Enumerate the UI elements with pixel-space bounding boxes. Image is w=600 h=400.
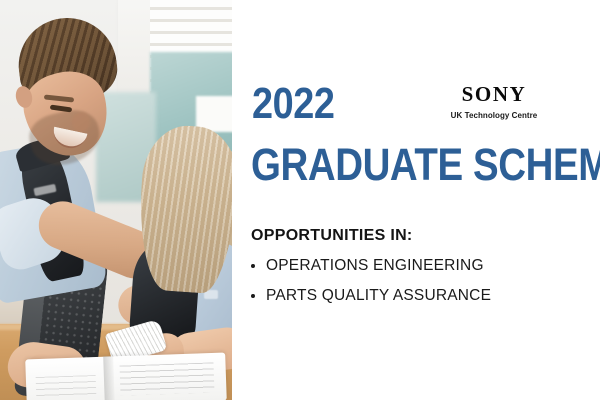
- year-heading: 2022: [252, 82, 334, 126]
- sony-wordmark: SONY: [448, 84, 540, 105]
- opportunities-list: OPERATIONS ENGINEERING PARTS QUALITY ASS…: [251, 258, 491, 319]
- photo-panel: [0, 0, 232, 400]
- sony-logo-lockup: SONY UK Technology Centre: [448, 84, 540, 120]
- opportunities-heading: OPPORTUNITIES IN:: [251, 228, 413, 244]
- binder-spine: [103, 356, 115, 400]
- binder-text-right-page: [120, 362, 215, 395]
- content-panel: 2022 SONY UK Technology Centre GRADUATE …: [232, 0, 600, 400]
- bullet-dot-icon: [251, 264, 255, 268]
- list-item: OPERATIONS ENGINEERING: [251, 258, 491, 274]
- list-item-label: PARTS QUALITY ASSURANCE: [266, 288, 491, 304]
- page-title: GRADUATE SCHEME: [251, 142, 600, 187]
- list-item: PARTS QUALITY ASSURANCE: [251, 288, 491, 304]
- bullet-dot-icon: [251, 294, 255, 298]
- list-item-label: OPERATIONS ENGINEERING: [266, 258, 484, 274]
- graduate-scheme-poster: 2022 SONY UK Technology Centre GRADUATE …: [0, 0, 600, 400]
- binder-text-left-page: [36, 375, 97, 399]
- sony-logo-subtitle: UK Technology Centre: [448, 112, 540, 120]
